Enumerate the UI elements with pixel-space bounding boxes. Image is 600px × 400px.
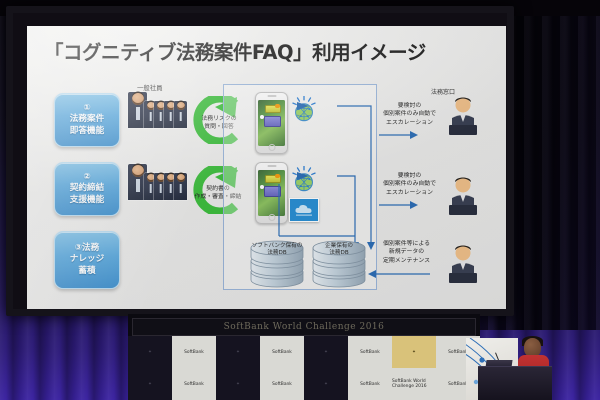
sponsor-cell: SoftBank World Challenge 2016	[392, 368, 436, 400]
maintenance-arrow	[367, 269, 431, 279]
escalation-label-2: 要検討の 個別案件のみ自動で エスカレーション	[383, 172, 436, 197]
employees-label: 一般社員	[137, 83, 163, 92]
function-box-1-label: ① 法務案件 即答機能	[70, 103, 104, 138]
function-box-1: ① 法務案件 即答機能	[54, 93, 120, 147]
projected-slide: 「コグニティブ法務案件FAQ」利用イメージ ① 法務案件 即答機能 ② 契約締結…	[27, 26, 506, 309]
escalation-arrow-1	[379, 130, 419, 140]
sponsor-cell: ✦	[216, 368, 260, 400]
sponsor-cell: SoftBank	[260, 368, 304, 400]
legal-counter-label: 法務窓口	[431, 87, 455, 96]
backdrop-title-bar: SoftBank World Challenge 2016	[132, 318, 476, 336]
sponsor-cell: ✦	[304, 336, 348, 368]
podium	[478, 366, 552, 400]
sponsor-cell: ✦	[304, 368, 348, 400]
backdrop-title: SoftBank World Challenge 2016	[224, 322, 385, 332]
sponsor-logo-grid: ✦ SoftBank ✦ SoftBank ✦ SoftBank ✦ SoftB…	[128, 336, 480, 400]
photo-scene: 「コグニティブ法務案件FAQ」利用イメージ ① 法務案件 即答機能 ② 契約締結…	[0, 0, 600, 400]
function-box-2-label: ② 契約締結 支援機能	[70, 172, 104, 207]
sponsor-cell: ✦	[392, 336, 436, 368]
escalation-arrow-2	[379, 200, 419, 210]
slide-title: 「コグニティブ法務案件FAQ」利用イメージ	[44, 36, 426, 65]
projection-screen-frame: 「コグニティブ法務案件FAQ」利用イメージ ① 法務案件 即答機能 ② 契約締結…	[6, 6, 514, 316]
sponsor-cell: ✦	[128, 336, 172, 368]
maintenance-label: 個別案件等による 新規データの 定期メンテナンス	[383, 240, 430, 265]
employee-group-top	[131, 92, 187, 128]
sponsor-cell: ✦	[216, 336, 260, 368]
legal-officer-icon-3	[445, 244, 481, 284]
legal-officer-icon-1	[445, 96, 481, 136]
function-box-3-label: ③法務 ナレッジ 蓄積	[70, 243, 104, 278]
database-company-label: 企業保有の法務DB	[311, 243, 367, 258]
sponsor-cell: SoftBank	[348, 368, 392, 400]
sponsor-cell: SoftBank	[172, 336, 216, 368]
event-backdrop: SoftBank World Challenge 2016 ✦ SoftBank…	[128, 314, 480, 400]
sponsor-cell: ✦	[128, 368, 172, 400]
sponsor-cell: SoftBank	[172, 368, 216, 400]
employee-group-bottom	[131, 164, 187, 200]
sponsor-cell: SoftBank	[260, 336, 304, 368]
legal-officer-icon-2	[445, 176, 481, 216]
function-box-3: ③法務 ナレッジ 蓄積	[54, 231, 120, 289]
sponsor-cell: SoftBank	[348, 336, 392, 368]
database-softbank-label: ソフトバンク保有の法務DB	[249, 243, 305, 258]
database-company: 企業保有の法務DB	[311, 238, 367, 290]
escalation-label-1: 要検討の 個別案件のみ自動で エスカレーション	[383, 102, 436, 127]
function-box-2: ② 契約締結 支援機能	[54, 162, 120, 216]
database-softbank: ソフトバンク保有の法務DB	[249, 238, 305, 290]
